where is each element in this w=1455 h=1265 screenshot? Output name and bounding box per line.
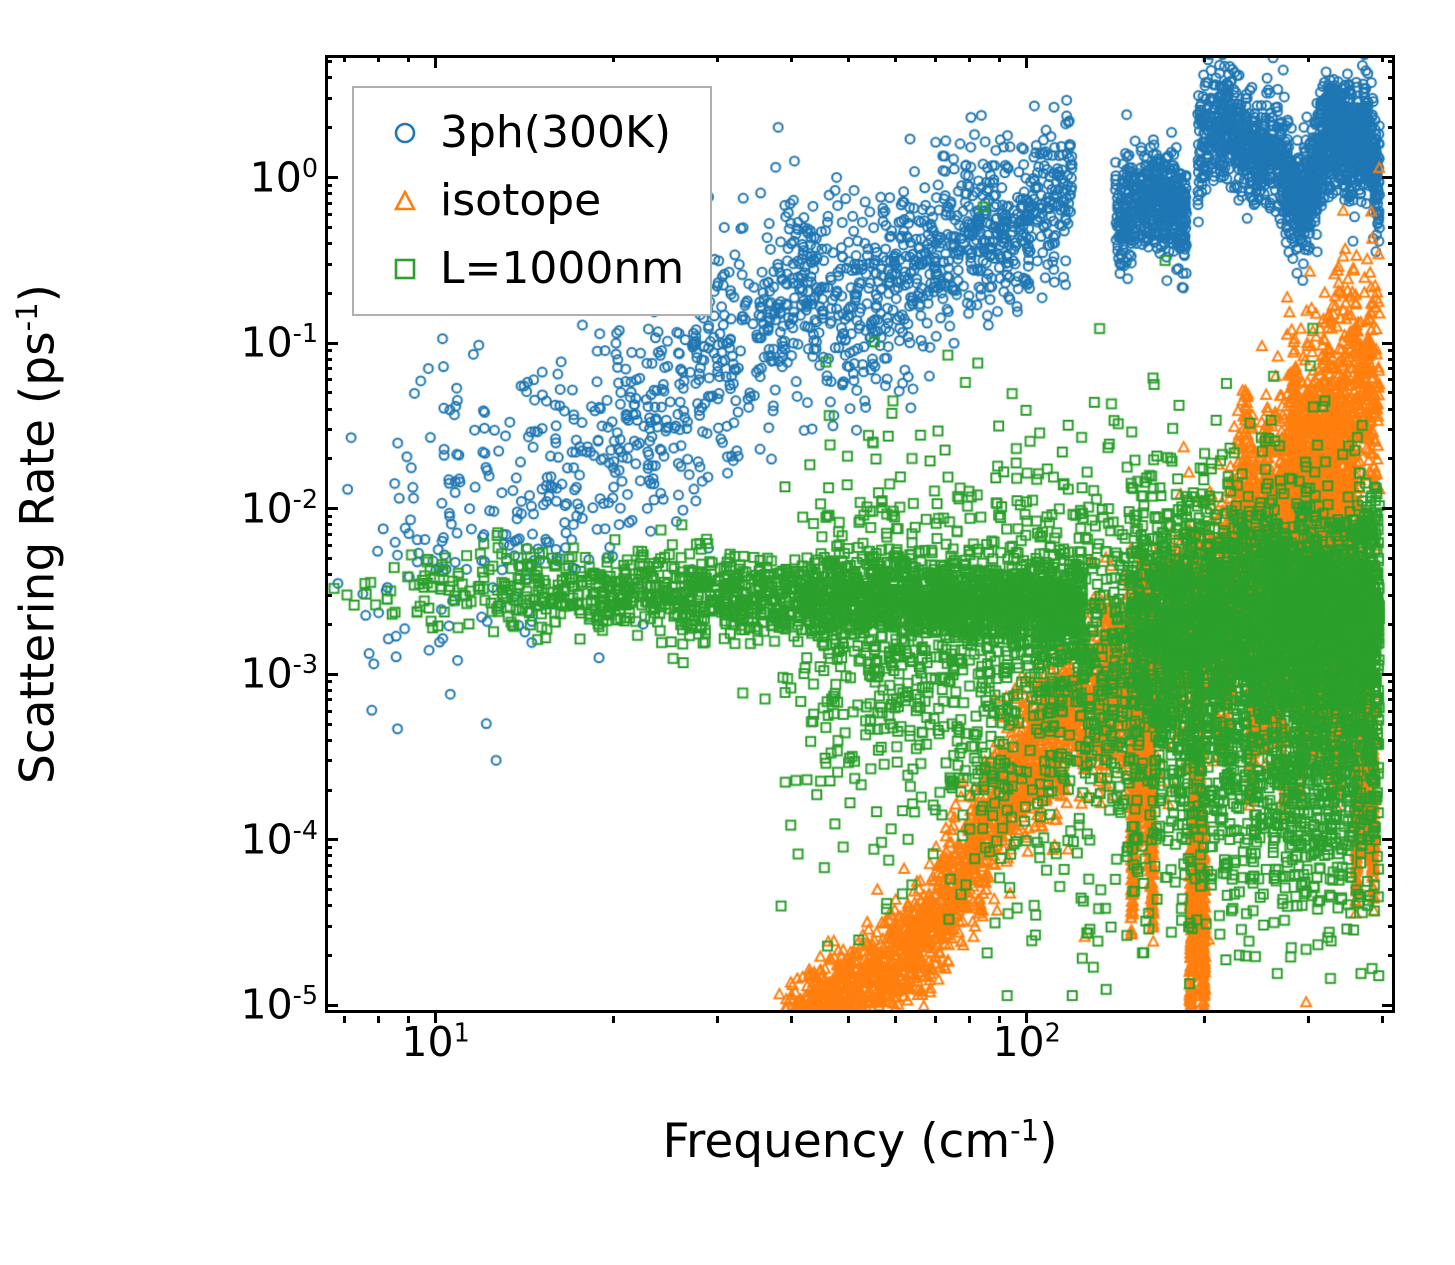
y-tick-minor [325, 391, 332, 394]
y-tick-label: 10-1 [240, 323, 318, 364]
y-tick-minor-right [1388, 723, 1395, 726]
y-tick-minor-right [1388, 76, 1395, 79]
triangle-up-open-icon [370, 190, 440, 212]
y-tick-minor [325, 544, 332, 547]
y-tick-label: 10-4 [240, 819, 318, 860]
circle-open-icon [370, 122, 440, 144]
x-axis-label: Frequency (cm-1) [662, 1118, 1057, 1165]
x-tick-minor-top [343, 55, 346, 62]
y-tick-minor [325, 573, 332, 576]
y-tick-label-mantissa: 10 [240, 319, 292, 367]
y-tick-minor-right [1388, 202, 1395, 205]
y-tick-minor-right [1388, 904, 1395, 907]
legend-item-3ph-300k[interactable]: 3ph(300K) [370, 102, 684, 164]
y-tick-minor-right [1388, 349, 1395, 352]
y-tick-minor-right [1388, 854, 1395, 857]
y-tick-minor [325, 846, 332, 849]
y-tick-major [325, 838, 338, 841]
x-tick-minor-top [894, 55, 897, 62]
y-tick-major-right [1382, 342, 1395, 345]
x-tick-label-mantissa: 10 [401, 1018, 453, 1066]
y-tick-label: 10-2 [240, 488, 318, 529]
y-tick-minor-right [1388, 192, 1395, 195]
x-tick-minor [847, 1016, 850, 1023]
y-tick-minor-right [1388, 875, 1395, 878]
y-axis-label: Scattering Rate (ps-1) [15, 284, 62, 784]
y-tick-label-mantissa: 10 [240, 650, 292, 698]
scatter-chart-figure: 10110210010-110-210-310-410-5 Frequency … [0, 0, 1455, 1265]
y-tick-minor-right [1388, 428, 1395, 431]
y-tick-minor [325, 97, 332, 100]
y-tick-minor-right [1388, 925, 1395, 928]
y-tick-minor-right [1388, 698, 1395, 701]
x-tick-minor-top [1381, 55, 1384, 62]
y-tick-minor [325, 557, 332, 560]
y-tick-minor [325, 875, 332, 878]
square-open-icon [370, 258, 440, 280]
y-axis-label-text: Scattering Rate (ps [11, 331, 66, 784]
y-tick-label-exponent: -3 [293, 649, 318, 679]
y-tick-minor-right [1388, 367, 1395, 370]
y-tick-minor-right [1388, 789, 1395, 792]
y-tick-minor-right [1388, 515, 1395, 518]
y-tick-minor-right [1388, 544, 1395, 547]
y-tick-label-mantissa: 10 [240, 484, 292, 532]
x-tick-minor-top [847, 55, 850, 62]
y-tick-minor [325, 723, 332, 726]
y-tick-minor [325, 925, 332, 928]
y-tick-minor-right [1388, 358, 1395, 361]
y-tick-minor [325, 864, 332, 867]
x-tick-minor-top [1307, 55, 1310, 62]
y-tick-minor [325, 226, 332, 229]
y-tick-minor [325, 759, 332, 762]
x-tick-major-top [1025, 55, 1028, 68]
y-tick-minor-right [1388, 954, 1395, 957]
y-tick-minor [325, 292, 332, 295]
y-tick-minor [325, 739, 332, 742]
y-tick-minor [325, 710, 332, 713]
x-tick-minor-top [998, 55, 1001, 62]
y-tick-minor-right [1388, 594, 1395, 597]
x-tick-label-mantissa: 10 [992, 1018, 1044, 1066]
y-tick-minor-right [1388, 864, 1395, 867]
y-tick-major [325, 342, 338, 345]
y-tick-minor-right [1388, 97, 1395, 100]
x-tick-minor-top [612, 55, 615, 62]
legend-item-isotope[interactable]: isotope [370, 170, 684, 232]
y-tick-minor [325, 515, 332, 518]
y-tick-minor-right [1388, 184, 1395, 187]
x-axis-label-exponent: -1 [1010, 1113, 1039, 1147]
y-tick-minor-right [1388, 378, 1395, 381]
x-axis-label-tail: ) [1039, 1114, 1057, 1169]
y-tick-minor [325, 60, 332, 63]
y-tick-minor-right [1388, 213, 1395, 216]
y-tick-minor-right [1388, 689, 1395, 692]
x-tick-minor-top [968, 55, 971, 62]
x-tick-minor [612, 1016, 615, 1023]
x-tick-minor-top [377, 55, 380, 62]
y-tick-label-exponent: -4 [293, 815, 318, 845]
y-tick-minor-right [1388, 888, 1395, 891]
y-tick-major [325, 1004, 338, 1007]
x-tick-minor [1203, 1016, 1206, 1023]
x-tick-label: 101 [401, 1022, 469, 1063]
y-tick-minor-right [1388, 710, 1395, 713]
x-tick-label-exponent: 1 [454, 1017, 470, 1047]
y-tick-major-right [1382, 1004, 1395, 1007]
y-tick-major [325, 673, 338, 676]
y-tick-minor-right [1388, 523, 1395, 526]
y-tick-minor-right [1388, 226, 1395, 229]
y-tick-minor [325, 263, 332, 266]
x-tick-minor-top [716, 55, 719, 62]
y-tick-minor [325, 533, 332, 536]
y-tick-minor [325, 680, 332, 683]
y-tick-minor [325, 192, 332, 195]
y-tick-minor-right [1388, 846, 1395, 849]
x-tick-minor [377, 1016, 380, 1023]
y-tick-minor [325, 457, 332, 460]
y-tick-label-mantissa: 10 [250, 153, 302, 201]
y-tick-major [325, 176, 338, 179]
y-tick-minor [325, 367, 332, 370]
legend-item-label: 3ph(300K) [440, 111, 671, 155]
x-tick-minor [894, 1016, 897, 1023]
y-tick-minor-right [1388, 457, 1395, 460]
y-tick-minor-right [1388, 623, 1395, 626]
x-tick-minor [1307, 1016, 1310, 1023]
y-tick-major-right [1382, 176, 1395, 179]
y-tick-label: 10-5 [240, 985, 318, 1026]
y-tick-minor-right [1388, 126, 1395, 129]
y-axis-label-exponent: -1 [10, 302, 44, 331]
x-tick-minor [790, 1016, 793, 1023]
y-tick-minor [325, 698, 332, 701]
y-tick-label-exponent: 0 [302, 152, 318, 182]
y-tick-minor [325, 523, 332, 526]
y-tick-minor-right [1388, 573, 1395, 576]
y-tick-minor-right [1388, 60, 1395, 63]
x-axis-label-text: Frequency (cm [662, 1114, 1010, 1169]
y-tick-label: 10-3 [240, 654, 318, 695]
y-tick-minor [325, 623, 332, 626]
y-tick-minor [325, 349, 332, 352]
y-axis-label-tail: ) [11, 284, 66, 302]
y-tick-minor-right [1388, 533, 1395, 536]
y-tick-minor-right [1388, 680, 1395, 683]
y-tick-minor [325, 202, 332, 205]
y-tick-minor-right [1388, 242, 1395, 245]
y-tick-label-exponent: -2 [293, 484, 318, 514]
y-tick-minor-right [1388, 408, 1395, 411]
legend-item-l-1000nm[interactable]: L=1000nm [370, 238, 684, 300]
legend-item-label: L=1000nm [440, 247, 684, 291]
x-tick-minor-top [407, 55, 410, 62]
y-tick-minor [325, 76, 332, 79]
y-tick-minor-right [1388, 759, 1395, 762]
y-tick-minor-right [1388, 391, 1395, 394]
y-tick-major [325, 507, 338, 510]
y-tick-minor [325, 594, 332, 597]
y-tick-major-right [1382, 838, 1395, 841]
y-tick-minor-right [1388, 739, 1395, 742]
y-tick-minor [325, 904, 332, 907]
y-tick-minor [325, 242, 332, 245]
y-tick-minor [325, 408, 332, 411]
chart-legend[interactable]: 3ph(300K)isotopeL=1000nm [352, 86, 712, 316]
x-tick-label-exponent: 2 [1045, 1017, 1061, 1047]
x-tick-minor [343, 1016, 346, 1023]
x-tick-minor-top [790, 55, 793, 62]
y-tick-minor [325, 854, 332, 857]
x-tick-minor [934, 1016, 937, 1023]
y-tick-minor [325, 358, 332, 361]
y-tick-minor [325, 954, 332, 957]
y-tick-minor [325, 789, 332, 792]
y-tick-label-exponent: -1 [293, 318, 318, 348]
x-tick-minor-top [934, 55, 937, 62]
x-tick-minor [716, 1016, 719, 1023]
legend-item-label: isotope [440, 179, 601, 223]
y-tick-minor-right [1388, 557, 1395, 560]
y-tick-minor [325, 213, 332, 216]
y-tick-minor-right [1388, 263, 1395, 266]
y-tick-label-mantissa: 10 [240, 815, 292, 863]
x-tick-minor [968, 1016, 971, 1023]
y-tick-minor-right [1388, 292, 1395, 295]
x-tick-minor-top [1203, 55, 1206, 62]
y-tick-minor [325, 888, 332, 891]
y-tick-minor [325, 689, 332, 692]
y-tick-minor [325, 184, 332, 187]
x-tick-major-top [434, 55, 437, 68]
y-tick-minor [325, 126, 332, 129]
y-tick-minor [325, 378, 332, 381]
x-tick-label: 102 [992, 1022, 1060, 1063]
y-tick-minor [325, 428, 332, 431]
y-tick-label-exponent: -5 [293, 980, 318, 1010]
y-tick-label: 100 [250, 157, 318, 198]
y-tick-label-mantissa: 10 [240, 981, 292, 1029]
y-tick-major-right [1382, 673, 1395, 676]
x-tick-minor [1381, 1016, 1384, 1023]
y-tick-major-right [1382, 507, 1395, 510]
